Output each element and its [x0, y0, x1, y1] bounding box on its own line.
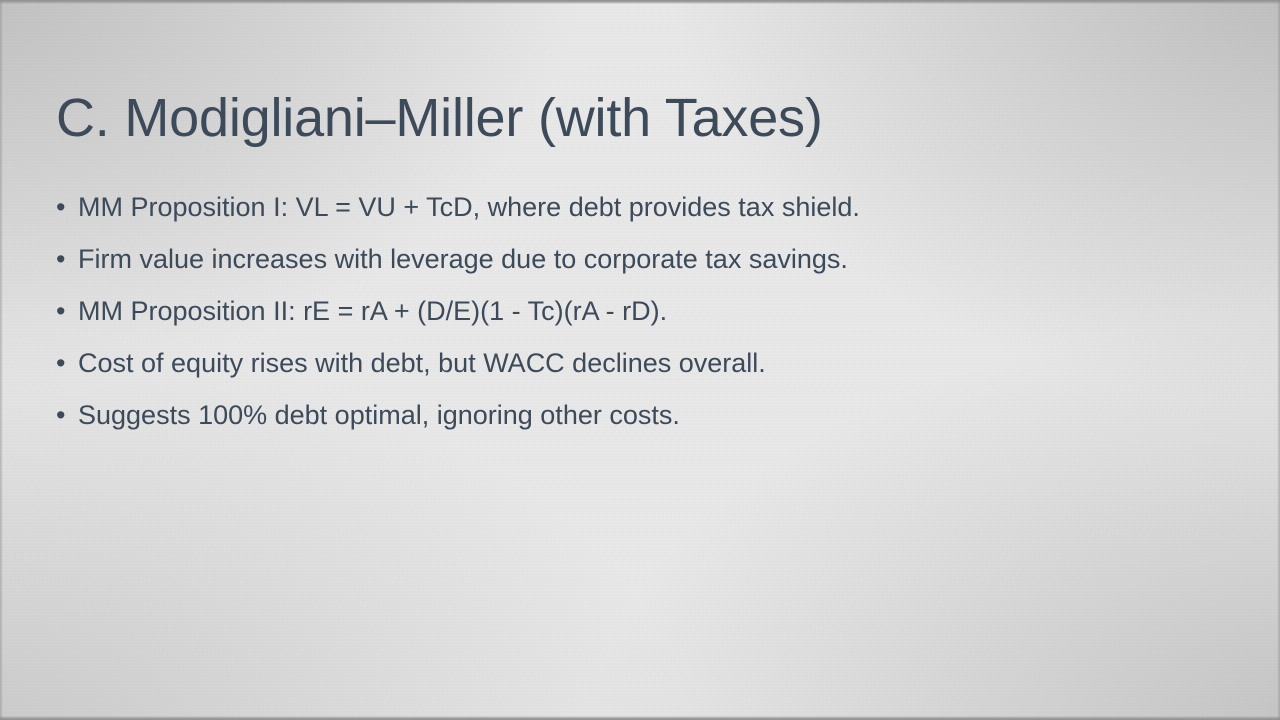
bullet-marker-icon: • [56, 394, 78, 436]
bullet-text-3: MM Proposition II: rE = rA + (D/E)(1 - T… [78, 290, 1206, 332]
presentation-slide: C. Modigliani–Miller (with Taxes) • MM P… [0, 0, 1280, 720]
slide-content: C. Modigliani–Miller (with Taxes) • MM P… [0, 0, 1280, 720]
bullet-marker-icon: • [56, 186, 78, 228]
bullet-item-3: • MM Proposition II: rE = rA + (D/E)(1 -… [56, 290, 1206, 342]
bullet-text-1: MM Proposition I: VL = VU + TcD, where d… [78, 186, 1206, 228]
bullet-text-2: Firm value increases with leverage due t… [78, 238, 1206, 280]
bullet-marker-icon: • [56, 238, 78, 280]
bullet-item-1: • MM Proposition I: VL = VU + TcD, where… [56, 186, 1206, 238]
slide-title: C. Modigliani–Miller (with Taxes) [56, 88, 1186, 148]
bullet-text-4: Cost of equity rises with debt, but WACC… [78, 342, 1206, 384]
bullet-item-4: • Cost of equity rises with debt, but WA… [56, 342, 1206, 394]
slide-bullet-list: • MM Proposition I: VL = VU + TcD, where… [56, 186, 1206, 446]
bullet-text-5: Suggests 100% debt optimal, ignoring oth… [78, 394, 1206, 436]
bullet-marker-icon: • [56, 342, 78, 384]
bullet-item-5: • Suggests 100% debt optimal, ignoring o… [56, 394, 1206, 446]
bullet-item-2: • Firm value increases with leverage due… [56, 238, 1206, 290]
bullet-marker-icon: • [56, 290, 78, 332]
